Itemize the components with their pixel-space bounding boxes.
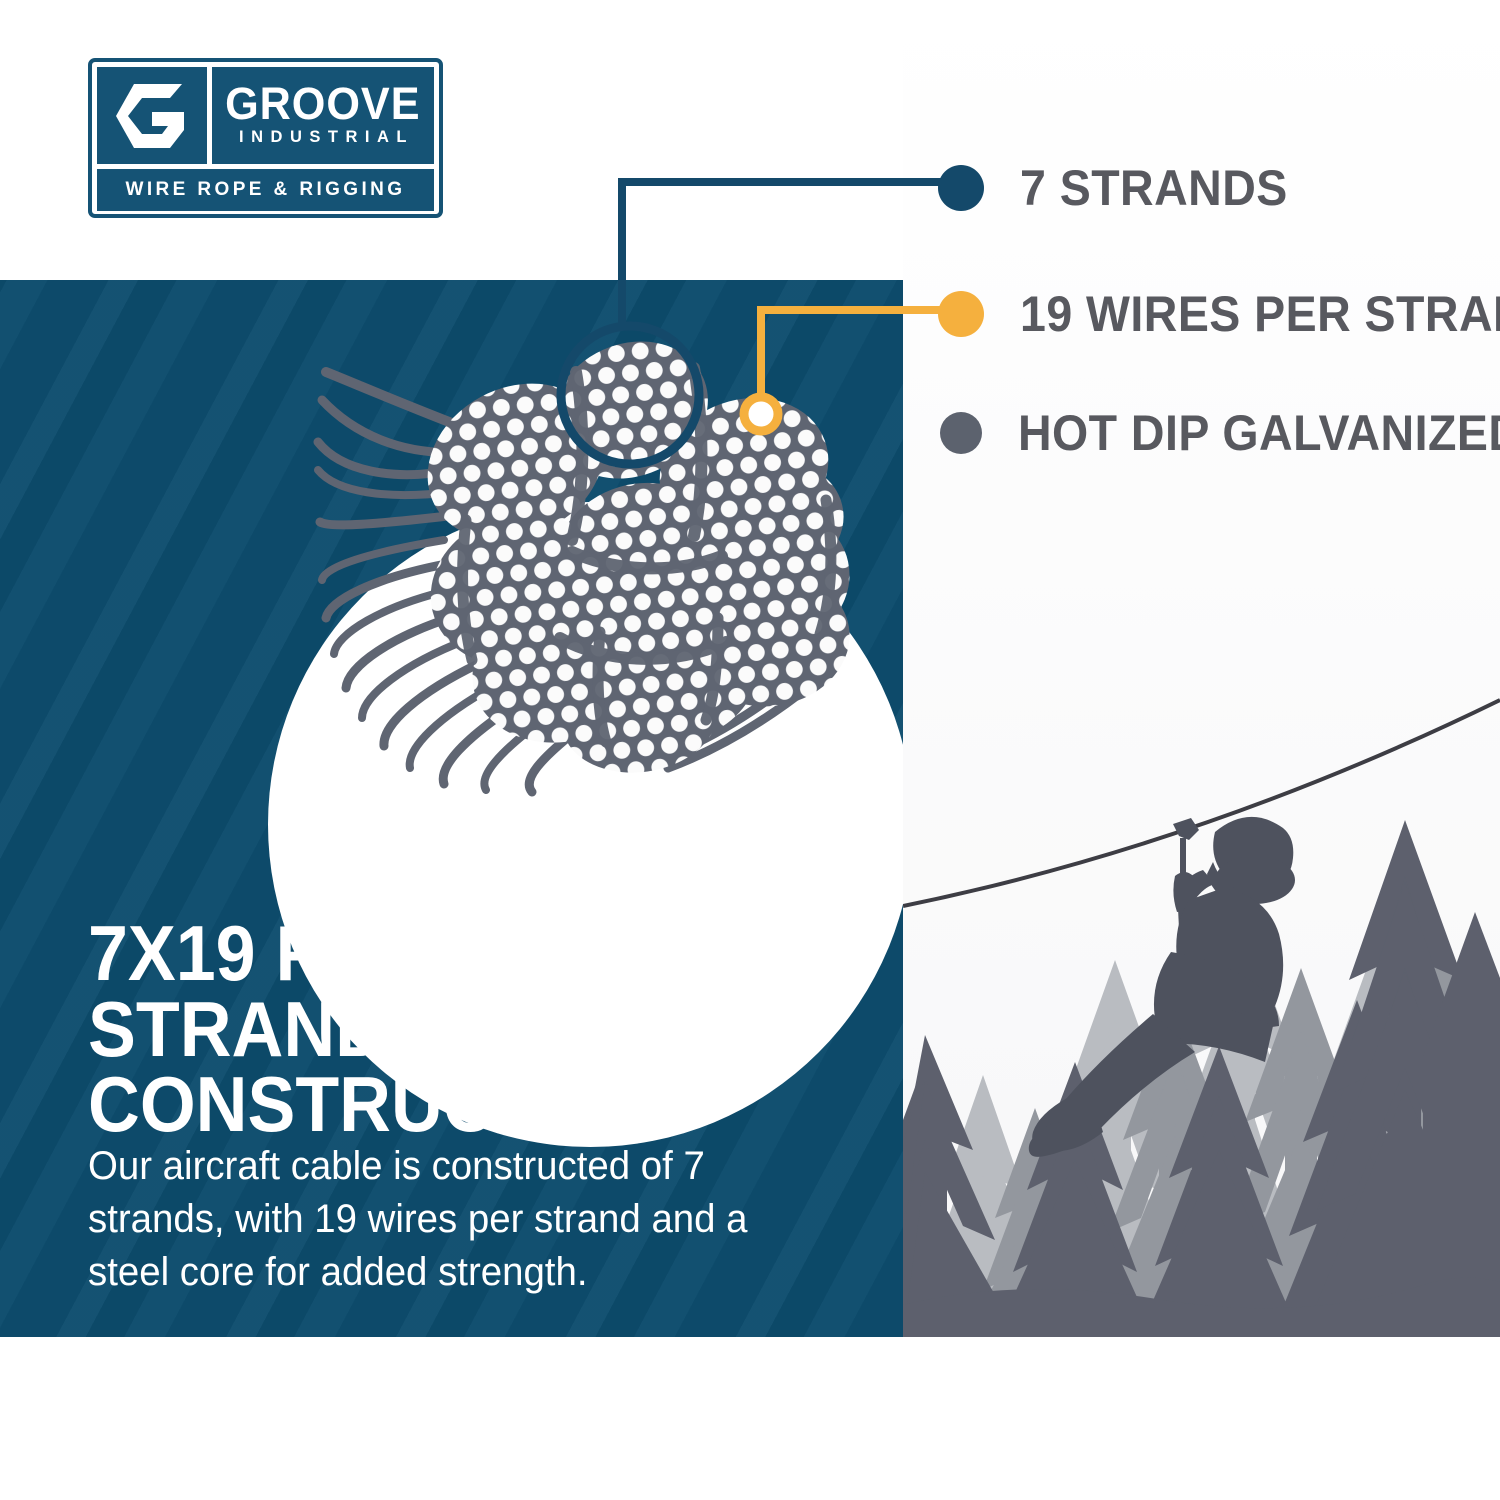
brand-logo[interactable]: GROOVE INDUSTRIAL WIRE ROPE & RIGGING <box>88 58 443 218</box>
callout-7-strands: 7 STRANDS <box>938 159 1308 217</box>
callout-19-wires-per-strand: 19 WIRES PER STRAND <box>938 285 1500 343</box>
brand-name-line1: GROOVE <box>225 83 420 126</box>
headline-block: 7X19 FLEXIBLE STRAND CONSTRUCTION <box>88 916 868 1143</box>
infographic-page: GROOVE INDUSTRIAL WIRE ROPE & RIGGING 7 … <box>0 0 1500 1500</box>
brand-tagline: WIRE ROPE & RIGGING <box>126 179 406 201</box>
orange-dot-icon <box>938 291 984 337</box>
gray-dot-icon <box>940 412 982 454</box>
callout-label: 19 WIRES PER STRAND <box>1020 285 1500 343</box>
callout-label: HOT DIP GALVANIZED <box>1018 404 1500 462</box>
headline-line2: STRAND CONSTRUCTION <box>88 992 806 1143</box>
body-paragraph: Our aircraft cable is constructed of 7 s… <box>88 1140 760 1300</box>
g-glyph <box>112 80 192 152</box>
callout-label: 7 STRANDS <box>1020 159 1288 217</box>
headline-line1: 7X19 FLEXIBLE <box>88 916 806 992</box>
navy-dot-icon <box>938 165 984 211</box>
callout-hot-dip-galvanized: HOT DIP GALVANIZED <box>938 404 1500 462</box>
brand-name-line2: INDUSTRIAL <box>232 128 414 148</box>
groove-g-monogram-icon <box>97 67 207 164</box>
